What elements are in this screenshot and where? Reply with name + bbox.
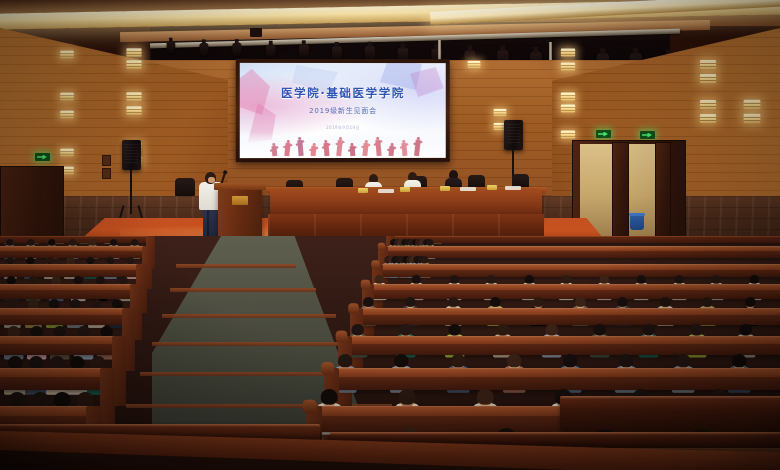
sconce-right-c-4 — [561, 104, 575, 112]
bench-end-knob-right-row-4 — [361, 280, 371, 290]
bench-end-knob-right-row-6 — [336, 331, 348, 343]
sconce-right-d-1 — [700, 60, 716, 69]
attendee-hair — [594, 324, 606, 335]
attendee-hair — [421, 256, 429, 264]
sconce-right-d-4 — [700, 114, 716, 123]
document-on-table-3 — [505, 186, 521, 190]
attendee-hair — [702, 297, 713, 307]
bench-desktop-right-row-3 — [380, 265, 780, 270]
auditorium-photo: 医学院·基础医学学院 2019级新生见面会 2019年9月19日 — [0, 0, 780, 470]
name-card-4 — [487, 185, 497, 190]
seating-bench-right-row-1[interactable] — [392, 236, 780, 243]
bench-desktop-right-row-5 — [358, 309, 780, 315]
attendee-hair — [405, 297, 416, 307]
bench-desktop-left-row-7 — [0, 369, 102, 377]
bench-end-knob-right-row-7 — [321, 362, 334, 375]
sconce-left-a-3 — [60, 111, 74, 119]
attendee-hair — [533, 297, 544, 307]
attendee-hair — [562, 275, 571, 284]
rear-door-panel-left[interactable] — [612, 142, 629, 240]
attendee-hair — [112, 299, 123, 309]
bench-desktop-left-row-2 — [0, 247, 144, 251]
attendee-hair — [352, 324, 364, 335]
bench-end-knob-right-row-8 — [303, 400, 317, 414]
attendee-hair — [70, 299, 81, 309]
bench-desktop-left-row-1 — [0, 236, 148, 237]
sconce-right-d-2 — [700, 74, 716, 83]
sconce-back-1 — [494, 109, 507, 116]
attendee-hair — [545, 324, 557, 335]
spotlight-3 — [233, 43, 242, 57]
pa-speaker-left — [122, 140, 141, 170]
silhouette-figure-4 — [310, 146, 316, 156]
bench-end-knob-right-row-2 — [378, 243, 385, 250]
attendee-hair — [321, 389, 338, 405]
pa-speaker-right — [504, 120, 523, 150]
spotlight-2 — [200, 43, 209, 56]
attendee-hair — [676, 354, 690, 367]
podium-top — [214, 183, 266, 190]
attendee-hair — [375, 275, 384, 284]
sconce-right-c-5 — [561, 130, 575, 138]
sconce-left-b-4 — [126, 106, 141, 115]
bench-desktop-right-row-2 — [386, 247, 780, 251]
attendee-hair — [507, 354, 521, 367]
sconce-right-c-2 — [561, 62, 575, 70]
spotlight-1 — [167, 41, 176, 54]
attendee-hair — [490, 297, 501, 307]
attendee-hair — [363, 297, 374, 307]
attendee-hair — [487, 275, 496, 284]
side-chair-left — [175, 178, 195, 196]
silhouette-figure-12 — [414, 140, 421, 156]
spotlight-5 — [299, 44, 309, 59]
sconce-right-d-3 — [700, 100, 716, 109]
sconce-right-c-3 — [561, 92, 575, 100]
bench-desktop-right-row-6 — [346, 337, 780, 344]
silhouette-figure-10 — [388, 146, 394, 156]
bench-desktop-left-row-8 — [0, 407, 88, 416]
attendee-hair — [599, 275, 608, 284]
audience-area — [0, 236, 780, 470]
attendee-hair — [642, 324, 654, 335]
attendee-hair — [451, 354, 465, 367]
document-on-table-1 — [378, 189, 394, 193]
projection-screen: 医学院·基础医学学院 2019级新生见面会 2019年9月19日 — [240, 63, 446, 158]
attendee-hair — [448, 324, 460, 335]
attendee-hair — [617, 297, 628, 307]
sconce-left-b-2 — [126, 60, 141, 69]
bench-desktop-left-row-4 — [0, 285, 132, 290]
bench-desktop-left-row-5 — [0, 309, 124, 315]
pa-tripod-legs-left — [118, 206, 144, 220]
rear-door-panel-right[interactable] — [655, 142, 671, 240]
name-card-2 — [400, 187, 410, 192]
attendee-hair — [732, 354, 746, 367]
foreground-bench-right[interactable] — [560, 396, 780, 430]
sconce-right-e-2 — [744, 114, 761, 123]
exit-sign-center-right — [596, 130, 611, 138]
wall-outlet-plate — [102, 168, 111, 179]
attendee-hair — [619, 354, 633, 367]
sconce-left-b-3 — [126, 92, 141, 101]
wall-switch-plate[interactable] — [102, 155, 111, 166]
aisle-step-2 — [170, 288, 316, 292]
attendee-hair — [7, 299, 18, 309]
attendee-hair — [450, 275, 459, 284]
sconce-left-a-1 — [60, 51, 74, 59]
attendee-hair — [49, 299, 60, 309]
attendee-hair — [749, 275, 758, 284]
sconce-right-c-1 — [561, 48, 575, 56]
slide-date: 2019年9月19日 — [240, 125, 446, 131]
exit-sign-left — [35, 153, 50, 161]
ceiling-vent-icon — [250, 28, 262, 37]
attendee-hair — [575, 297, 586, 307]
attendee-hair — [412, 275, 421, 284]
exit-sign-right — [640, 131, 655, 139]
bench-end-knob-right-row-3 — [371, 260, 379, 268]
bench-desktop-left-row-6 — [0, 337, 114, 344]
attendee-hair — [426, 239, 433, 246]
attendee-hair — [338, 354, 352, 367]
attendee-hair — [91, 299, 102, 309]
attendee-hair — [563, 354, 577, 367]
sconce-left-b-1 — [126, 48, 141, 57]
attendee-hair — [477, 389, 494, 405]
speaking-podium — [218, 186, 262, 242]
sconce-back-3 — [468, 61, 481, 68]
bench-desktop-right-row-4 — [370, 285, 780, 290]
attendee-hair — [399, 389, 416, 405]
attendee-hair — [712, 275, 721, 284]
attendee-hair — [691, 324, 703, 335]
trash-bin — [630, 215, 644, 230]
left-side-door[interactable] — [0, 166, 64, 242]
attendee-hair — [674, 275, 683, 284]
attendee-hair — [745, 297, 756, 307]
slide-silhouette-figures — [270, 139, 428, 156]
attendee-hair — [739, 324, 751, 335]
sconce-left-a-2 — [60, 93, 74, 101]
bench-desktop-right-row-1 — [394, 236, 780, 237]
attendee-hair — [524, 275, 533, 284]
slide-main-title: 医学院·基础医学学院 — [240, 85, 446, 101]
aisle-step-3 — [162, 314, 336, 318]
bench-desktop-left-row-3 — [0, 265, 138, 270]
silhouette-figure-11 — [401, 143, 407, 156]
attendee-hair — [448, 297, 459, 307]
silhouette-figure-5 — [323, 143, 329, 156]
silhouette-figure-3 — [297, 140, 303, 156]
silhouette-figure-7 — [350, 146, 356, 156]
slide-subtitle: 2019级新生见面会 — [240, 106, 446, 116]
sconce-right-e-1 — [744, 100, 761, 109]
podium-emblem — [232, 196, 248, 205]
name-card-1 — [358, 188, 368, 193]
attendee-hair — [400, 324, 412, 335]
attendee-hair — [497, 324, 509, 335]
attendee-hair — [394, 354, 408, 367]
aisle-step-4 — [152, 342, 354, 346]
sconce-left-a-4 — [60, 149, 74, 157]
panel-table — [270, 190, 542, 216]
document-on-table-2 — [460, 187, 476, 191]
silhouette-figure-9 — [375, 140, 381, 156]
attendee-hair — [660, 297, 671, 307]
spotlight-4 — [266, 45, 276, 59]
silhouette-figure-8 — [362, 143, 368, 156]
silhouette-figure-6 — [336, 140, 343, 156]
bench-end-knob-right-row-5 — [348, 303, 359, 314]
bench-desktop-right-row-7 — [332, 369, 780, 377]
name-card-3 — [440, 186, 450, 191]
attendee-hair — [637, 275, 646, 284]
aisle-step-1 — [176, 264, 296, 268]
silhouette-figure-1 — [271, 146, 277, 156]
attendee-hair — [28, 299, 39, 309]
projection-screen-frame: 医学院·基础医学学院 2019级新生见面会 2019年9月19日 — [236, 59, 450, 162]
silhouette-figure-2 — [284, 143, 290, 156]
